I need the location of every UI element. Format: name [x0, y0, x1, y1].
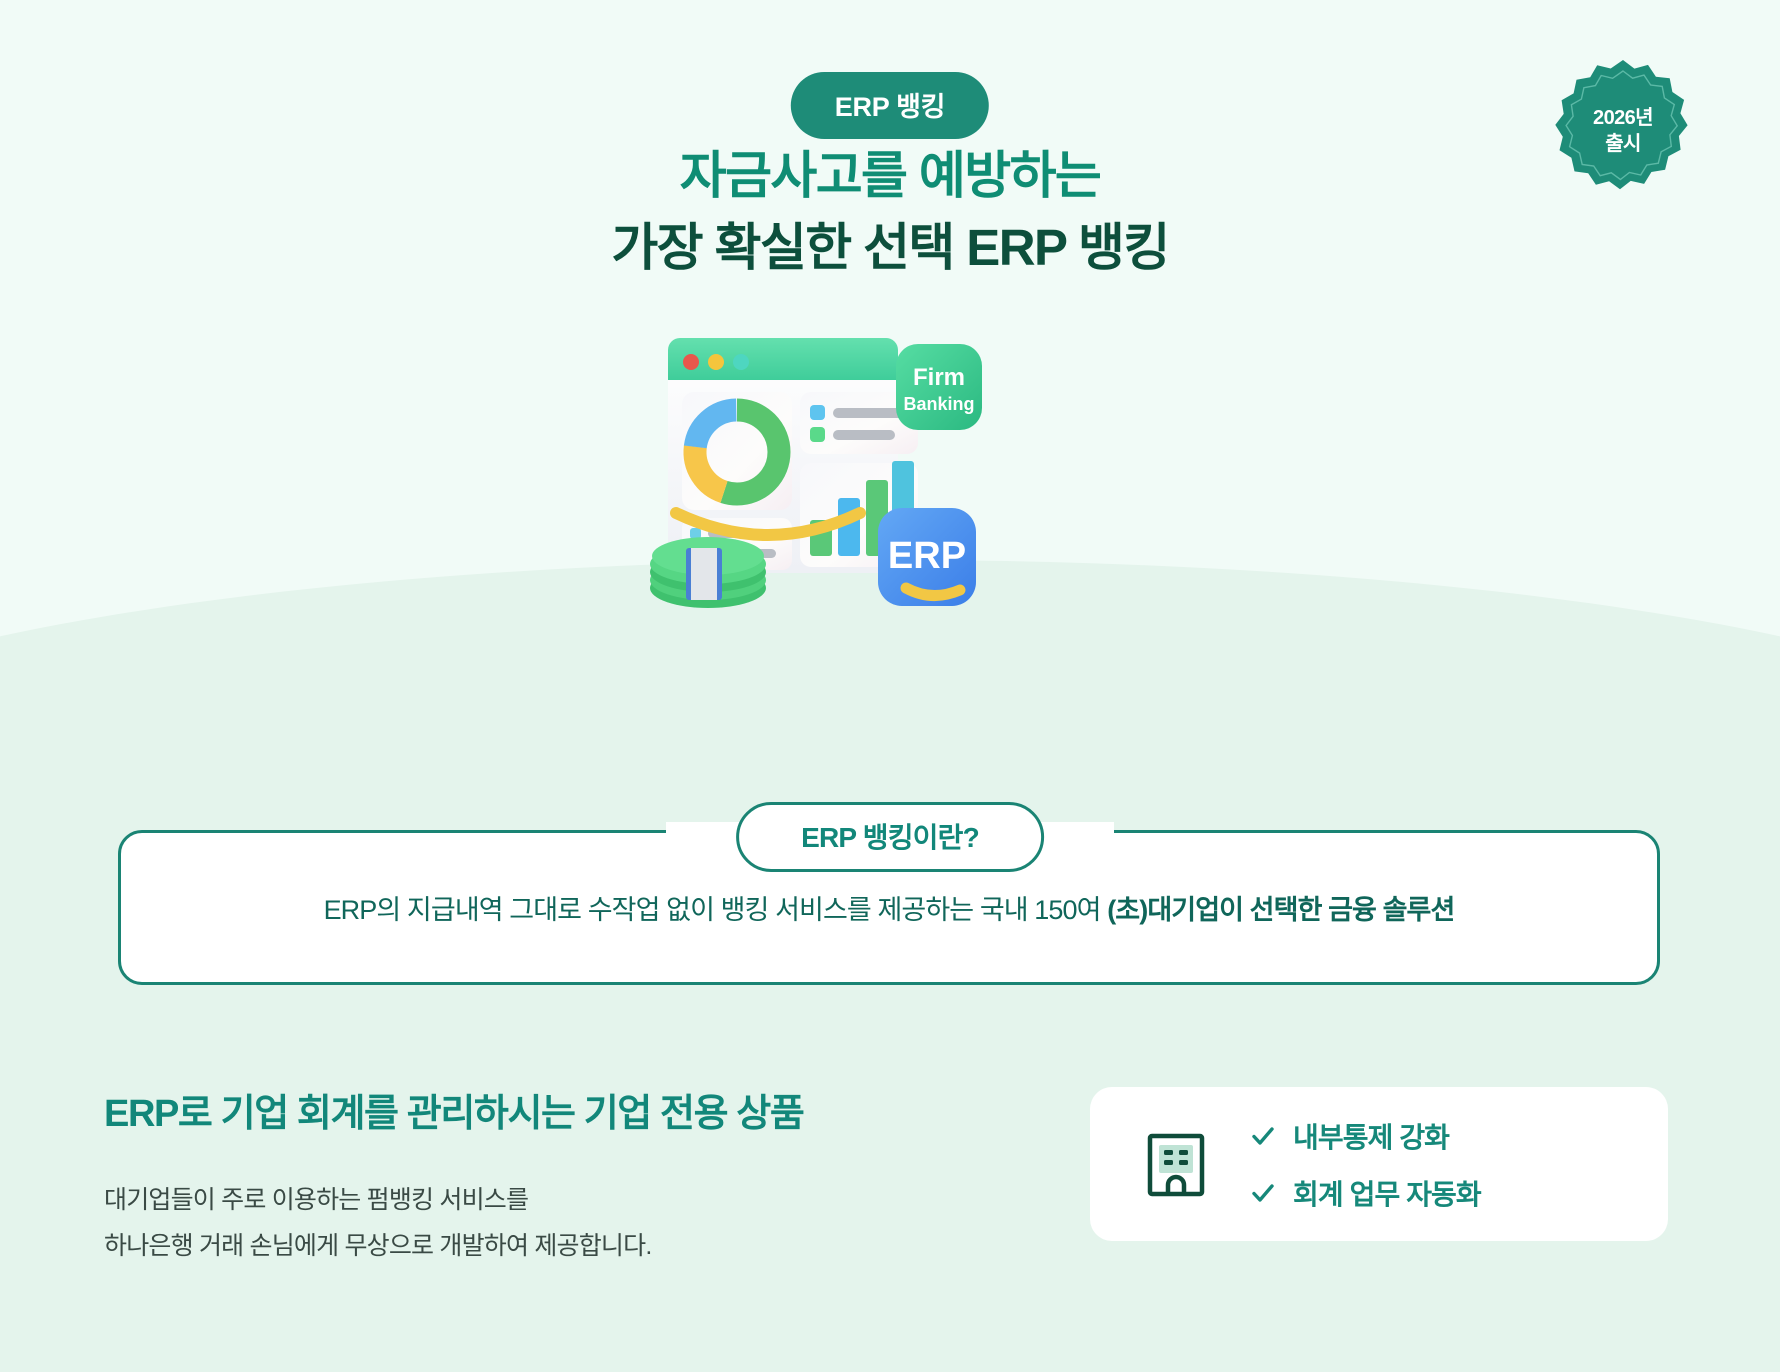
window-dot-teal — [733, 354, 749, 370]
money-stack — [650, 537, 766, 608]
erp-banking-badge: ERP 뱅킹 — [791, 72, 989, 139]
feature-item-accounting-automation: 회계 업무 자동화 — [1250, 1173, 1481, 1213]
firm-tile-line1: Firm — [913, 364, 965, 391]
seal-status: 출시 — [1605, 132, 1641, 158]
feature-item-label: 회계 업무 자동화 — [1293, 1173, 1481, 1213]
promo-description-line-2: 하나은행 거래 손님에게 무상으로 개발하여 제공합니다. — [104, 1224, 651, 1270]
definition-tab-label: ERP 뱅킹이란? — [736, 802, 1044, 872]
definition-text-plain: ERP의 지급내역 그대로 수작업 없이 뱅킹 서비스를 제공하는 국내 150… — [324, 895, 1108, 925]
page-title: 자금사고를 예방하는 가장 확실한 선택 ERP 뱅킹 — [0, 140, 1780, 285]
window-dot-red — [683, 354, 699, 370]
building-icon — [1146, 1131, 1206, 1197]
headline-line-1: 자금사고를 예방하는 — [0, 140, 1780, 212]
hero-illustration: Firm Banking ERP — [628, 330, 1028, 640]
feature-item-label: 내부통제 강화 — [1293, 1116, 1449, 1156]
hero-illustration-svg: Firm Banking ERP — [628, 330, 1028, 640]
headline-line-2: 가장 확실한 선택 ERP 뱅킹 — [0, 212, 1780, 284]
window-dot-yellow — [708, 354, 724, 370]
erp-tile-label: ERP — [888, 535, 966, 577]
firm-tile-line2: Banking — [903, 394, 974, 414]
feature-card: 내부통제 강화 회계 업무 자동화 — [1090, 1087, 1668, 1241]
seal-text-group: 2026년 출시 — [1549, 58, 1697, 206]
promo-description: 대기업들이 주로 이용하는 펌뱅킹 서비스를 하나은행 거래 손님에게 무상으로… — [104, 1178, 651, 1269]
firm-banking-tile: Firm Banking — [896, 344, 982, 430]
erp-tile: ERP — [878, 508, 976, 606]
check-icon — [1250, 1123, 1276, 1149]
promo-description-line-1: 대기업들이 주로 이용하는 펌뱅킹 서비스를 — [104, 1178, 651, 1224]
page-stage: ERP 뱅킹 자금사고를 예방하는 가장 확실한 선택 ERP 뱅킹 2026년… — [0, 0, 1780, 1372]
check-icon — [1250, 1180, 1276, 1206]
definition-text-emphasis: (초)대기업이 선택한 금융 솔루션 — [1107, 895, 1454, 925]
feature-item-internal-control: 내부통제 강화 — [1250, 1116, 1481, 1156]
promo-heading: ERP로 기업 회계를 관리하시는 기업 전용 상품 — [104, 1082, 803, 1137]
seal-year: 2026년 — [1593, 106, 1653, 132]
definition-text: ERP의 지급내역 그대로 수작업 없이 뱅킹 서비스를 제공하는 국내 150… — [324, 888, 1455, 927]
release-year-seal: 2026년 출시 — [1549, 58, 1697, 206]
feature-list: 내부통제 강화 회계 업무 자동화 — [1250, 1116, 1481, 1213]
